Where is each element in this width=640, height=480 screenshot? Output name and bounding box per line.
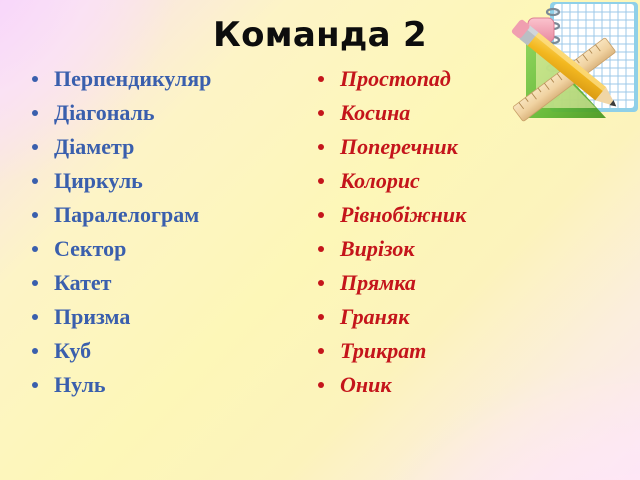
bullet-icon: [32, 144, 38, 150]
bullet-icon: [32, 382, 38, 388]
bullet-icon: [318, 382, 324, 388]
list-item[interactable]: Рівнобіжник: [312, 198, 612, 232]
list-item-label: Сектор: [54, 236, 126, 261]
bullet-icon: [318, 110, 324, 116]
list-item[interactable]: Перпендикуляр: [26, 62, 316, 96]
list-item[interactable]: Нуль: [26, 368, 316, 402]
list-item[interactable]: Діагональ: [26, 96, 316, 130]
list-item[interactable]: Циркуль: [26, 164, 316, 198]
list-item[interactable]: Оник: [312, 368, 612, 402]
bullet-icon: [32, 280, 38, 286]
list-item-label: Косина: [340, 100, 410, 125]
bullet-icon: [318, 314, 324, 320]
bullet-icon: [318, 76, 324, 82]
list-item[interactable]: Вирізок: [312, 232, 612, 266]
list-item-label: Вирізок: [340, 236, 414, 261]
list-item-label: Поперечник: [340, 134, 458, 159]
list-item-label: Колорис: [340, 168, 420, 193]
bullet-icon: [318, 348, 324, 354]
left-term-list: Перпендикуляр Діагональ Діаметр Циркуль …: [26, 62, 316, 402]
bullet-icon: [318, 144, 324, 150]
list-item-label: Рівнобіжник: [340, 202, 466, 227]
list-item[interactable]: Поперечник: [312, 130, 612, 164]
list-item[interactable]: Катет: [26, 266, 316, 300]
list-item-label: Граняк: [340, 304, 409, 329]
list-item[interactable]: Сектор: [26, 232, 316, 266]
list-item[interactable]: Куб: [26, 334, 316, 368]
list-item-label: Перпендикуляр: [54, 66, 211, 91]
right-term-list: Простопад Косина Поперечник Колорис Рівн…: [312, 62, 612, 402]
bullet-icon: [318, 178, 324, 184]
list-item-label: Діагональ: [54, 100, 155, 125]
bullet-icon: [318, 212, 324, 218]
page-title: Команда 2: [0, 15, 640, 55]
bullet-icon: [318, 246, 324, 252]
list-item-label: Куб: [54, 338, 91, 363]
list-item-label: Прямка: [340, 270, 416, 295]
bullet-icon: [32, 246, 38, 252]
bullet-icon: [32, 76, 38, 82]
bullet-icon: [32, 212, 38, 218]
list-item[interactable]: Граняк: [312, 300, 612, 334]
list-item-label: Трикрат: [340, 338, 426, 363]
bullet-icon: [32, 178, 38, 184]
list-item-label: Призма: [54, 304, 130, 329]
bullet-icon: [32, 110, 38, 116]
list-item[interactable]: Діаметр: [26, 130, 316, 164]
list-item-label: Циркуль: [54, 168, 143, 193]
list-item[interactable]: Косина: [312, 96, 612, 130]
bullet-icon: [32, 314, 38, 320]
list-item-label: Катет: [54, 270, 111, 295]
slide-canvas: Команда 2 Перпендикуляр Діагональ Діамет…: [0, 0, 640, 480]
list-item[interactable]: Паралелограм: [26, 198, 316, 232]
list-item[interactable]: Прямка: [312, 266, 612, 300]
list-item-label: Паралелограм: [54, 202, 199, 227]
list-item[interactable]: Простопад: [312, 62, 612, 96]
list-item-label: Діаметр: [54, 134, 134, 159]
list-item-label: Нуль: [54, 372, 106, 397]
bullet-icon: [32, 348, 38, 354]
list-item[interactable]: Трикрат: [312, 334, 612, 368]
bullet-icon: [318, 280, 324, 286]
list-item[interactable]: Колорис: [312, 164, 612, 198]
list-item[interactable]: Призма: [26, 300, 316, 334]
list-item-label: Простопад: [340, 66, 451, 91]
list-item-label: Оник: [340, 372, 392, 397]
